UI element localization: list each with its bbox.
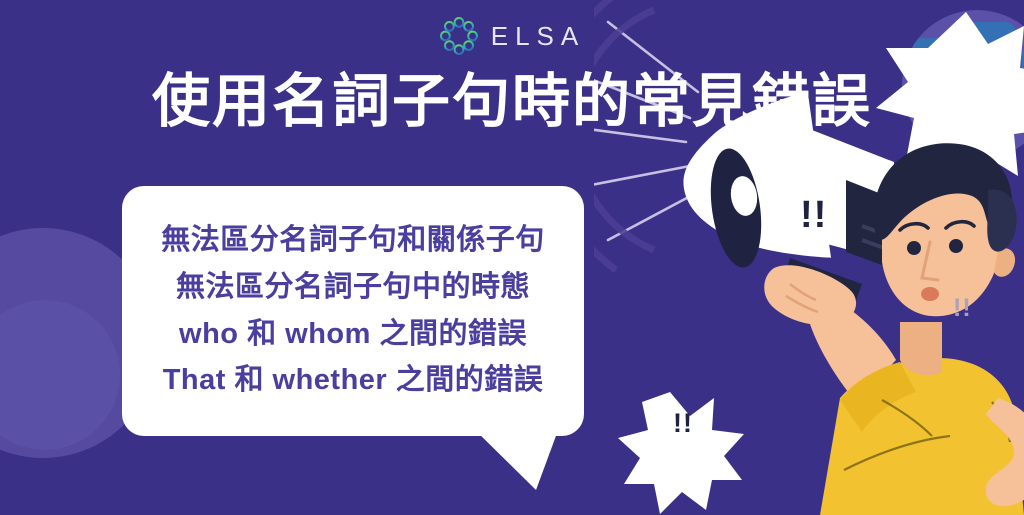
eye-right-icon <box>949 239 963 253</box>
mouth-icon <box>921 287 939 301</box>
elsa-flower-logo-icon <box>439 16 479 56</box>
brand-name: ELSA <box>491 23 586 49</box>
page-title: 使用名詞子句時的常見錯誤 <box>0 68 1024 136</box>
poster-canvas: ELSA 使用名詞子句時的常見錯誤 無法區分名詞子句和關係子句 無法區分名詞子句… <box>0 0 1024 515</box>
bubble-line: 無法區分名詞子句和關係子句 <box>161 222 545 260</box>
burst-right-text: !! <box>953 296 972 321</box>
bubble-line: who 和 whom 之間的錯誤 <box>179 316 527 354</box>
speech-bubble: 無法區分名詞子句和關係子句 無法區分名詞子句中的時態 who 和 whom 之間… <box>122 186 584 436</box>
burst-bottom-text: !! <box>673 410 693 437</box>
left-circle-decor-inner <box>0 300 120 450</box>
bubble-line: 無法區分名詞子句中的時態 <box>176 269 530 307</box>
eye-left-icon <box>907 241 921 255</box>
burst-top-right-text: !! <box>800 196 827 234</box>
bubble-line: That 和 whether 之間的錯誤 <box>163 362 544 400</box>
